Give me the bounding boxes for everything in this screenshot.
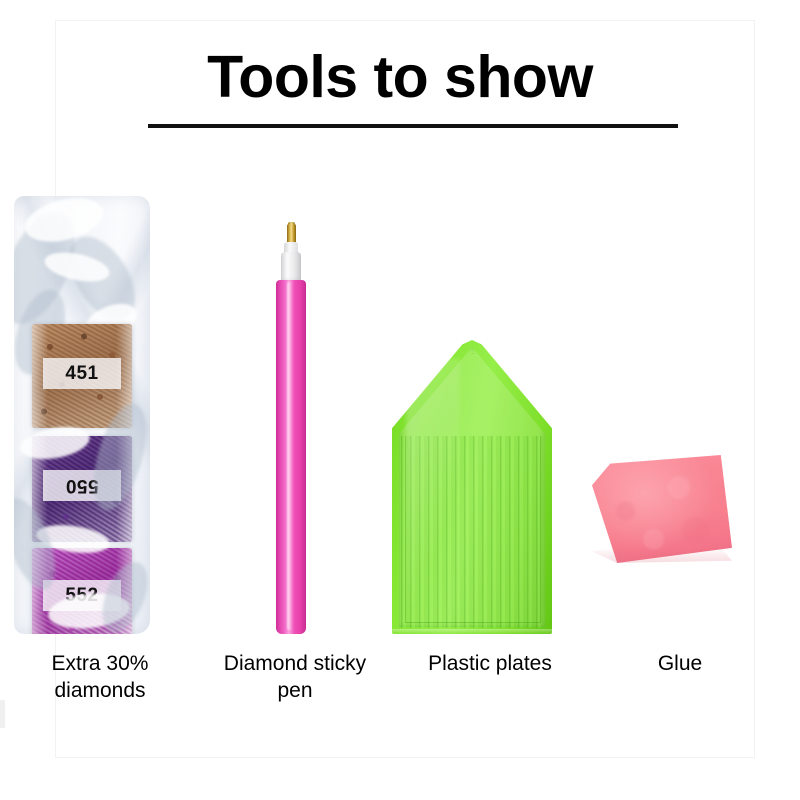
- plastic-wrapper: 451 550 552: [14, 196, 150, 634]
- glue-image: [592, 455, 732, 563]
- caption-diamond-sticky-pen: Diamond sticky pen: [200, 651, 390, 705]
- pen-highlight: [287, 282, 292, 630]
- product-infographic: Tools to show 451 550: [0, 0, 800, 800]
- title-underline: [148, 124, 678, 128]
- diamond-sticky-pen-image: [262, 222, 322, 634]
- page-title: Tools to show: [0, 48, 800, 107]
- plate-highlight: [406, 358, 460, 606]
- diamond-bag-code: 451: [43, 358, 121, 389]
- caption-extra-diamonds: Extra 30% diamonds: [0, 651, 200, 705]
- caption-plastic-plates: Plastic plates: [390, 651, 590, 678]
- caption-glue: Glue: [590, 651, 770, 678]
- extra-diamonds-packet-image: 451 550 552: [14, 196, 150, 634]
- glue-texture: [592, 455, 732, 563]
- glue-edge: [592, 547, 732, 563]
- plastic-plate-image: [392, 340, 552, 634]
- plate-bottom-lip: [392, 629, 552, 634]
